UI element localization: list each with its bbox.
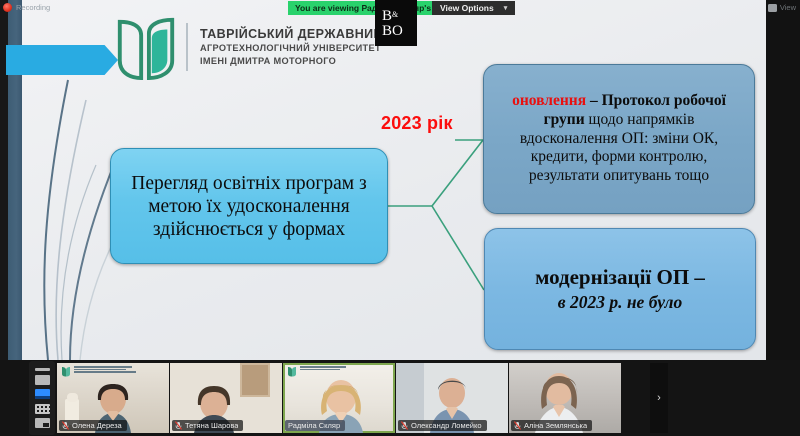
participant-filmstrip: Олена Дереза — [0, 360, 800, 436]
shared-screen-slide: ТАВРІЙСЬКИЙ ДЕРЖАВНИЙ АГРОТЕХНОЛОГІЧНИЙ … — [0, 0, 766, 360]
participant-tile[interactable]: Олександр Ломейко — [396, 363, 508, 433]
participant-nameplate: Радміла Скляр — [285, 420, 345, 431]
participant-nameplate: Олександр Ломейко — [398, 420, 487, 431]
university-wordmark: ТАВРІЙСЬКИЙ ДЕРЖАВНИЙ АГРОТЕХНОЛОГІЧНИЙ … — [200, 27, 383, 67]
participant-tiles: Олена Дереза — [57, 363, 622, 433]
picture-in-picture-icon[interactable] — [35, 418, 50, 428]
blue-arrow-banner — [6, 45, 118, 75]
update-protocol-box: оновлення – Протокол робочої групи щодо … — [483, 64, 755, 214]
participant-name: Тетяна Шарова — [185, 421, 238, 430]
update-protocol-text: оновлення – Протокол робочої групи щодо … — [484, 88, 754, 191]
participant-tile[interactable]: Аліна Землянська — [509, 363, 621, 433]
view-options-button[interactable]: View Options ▾ — [432, 1, 515, 15]
view-button-top-right[interactable]: View — [768, 3, 796, 12]
gallery-view-icon[interactable] — [35, 404, 50, 414]
layout-selector-rail[interactable] — [29, 361, 55, 435]
svg-text:&: & — [392, 10, 399, 19]
strip-view-icon[interactable] — [35, 389, 50, 399]
view-layout-icon — [768, 4, 777, 12]
university-line-1: ТАВРІЙСЬКИЙ ДЕРЖАВНИЙ — [200, 27, 383, 43]
chevron-down-icon: ▾ — [504, 4, 508, 12]
b-and-o-logo: B & B O — [375, 0, 417, 46]
svg-text:B: B — [382, 8, 392, 24]
microphone-muted-icon — [514, 421, 521, 430]
year-label: 2023 рік — [381, 113, 453, 134]
bo-monogram-icon: B & B O — [381, 6, 411, 40]
update-dash: – — [586, 92, 602, 109]
svg-text:B: B — [382, 23, 392, 39]
update-keyword: оновлення — [512, 92, 586, 109]
view-button-label: View — [780, 3, 796, 12]
participant-nameplate: Аліна Землянська — [511, 420, 592, 431]
university-line-2: АГРОТЕХНОЛОГІЧНИЙ УНІВЕРСИТЕТ — [200, 42, 383, 54]
recording-dot-icon — [3, 3, 12, 12]
participant-name: Олена Дереза — [72, 421, 122, 430]
filmstrip-next-button[interactable]: › — [650, 363, 668, 433]
leaf-logo-icon — [112, 14, 180, 80]
participant-name: Радміла Скляр — [288, 421, 340, 430]
modernization-box: модернізації ОП – в 2023 р. не було — [484, 228, 756, 350]
microphone-muted-icon — [401, 421, 408, 430]
recording-label: Recording — [16, 3, 50, 12]
recording-indicator: Recording — [3, 3, 50, 12]
view-options-label: View Options — [440, 3, 494, 13]
main-statement-text: Перегляд освітніх програм з метою їх удо… — [111, 168, 387, 245]
participant-tile[interactable]: Олена Дереза — [57, 363, 169, 433]
microphone-muted-icon — [175, 421, 182, 430]
modernization-title: модернізації ОП – — [495, 264, 745, 291]
modernization-subtitle: в 2023 р. не було — [495, 291, 745, 314]
speaker-view-icon[interactable] — [35, 375, 50, 385]
participant-name: Аліна Землянська — [524, 421, 587, 430]
logo-divider — [186, 23, 188, 71]
microphone-muted-icon — [62, 421, 69, 430]
chevron-right-icon: › — [657, 392, 661, 404]
university-line-3: ІМЕНІ ДМИТРА МОТОРНОГО — [200, 55, 383, 67]
participant-name: Олександр Ломейко — [411, 421, 482, 430]
participant-tile[interactable]: Радміла Скляр — [283, 363, 395, 433]
minimize-layout-icon[interactable] — [35, 368, 50, 371]
svg-text:O: O — [392, 23, 403, 39]
participant-nameplate: Олена Дереза — [59, 420, 127, 431]
main-statement-box: Перегляд освітніх програм з метою їх удо… — [110, 148, 388, 264]
screen-root: ТАВРІЙСЬКИЙ ДЕРЖАВНИЙ АГРОТЕХНОЛОГІЧНИЙ … — [0, 0, 800, 436]
participant-nameplate: Тетяна Шарова — [172, 420, 243, 431]
modernization-text: модернізації ОП – в 2023 р. не було — [485, 260, 755, 318]
university-logo-block: ТАВРІЙСЬКИЙ ДЕРЖАВНИЙ АГРОТЕХНОЛОГІЧНИЙ … — [112, 14, 383, 80]
participant-tile[interactable]: Тетяна Шарова — [170, 363, 282, 433]
